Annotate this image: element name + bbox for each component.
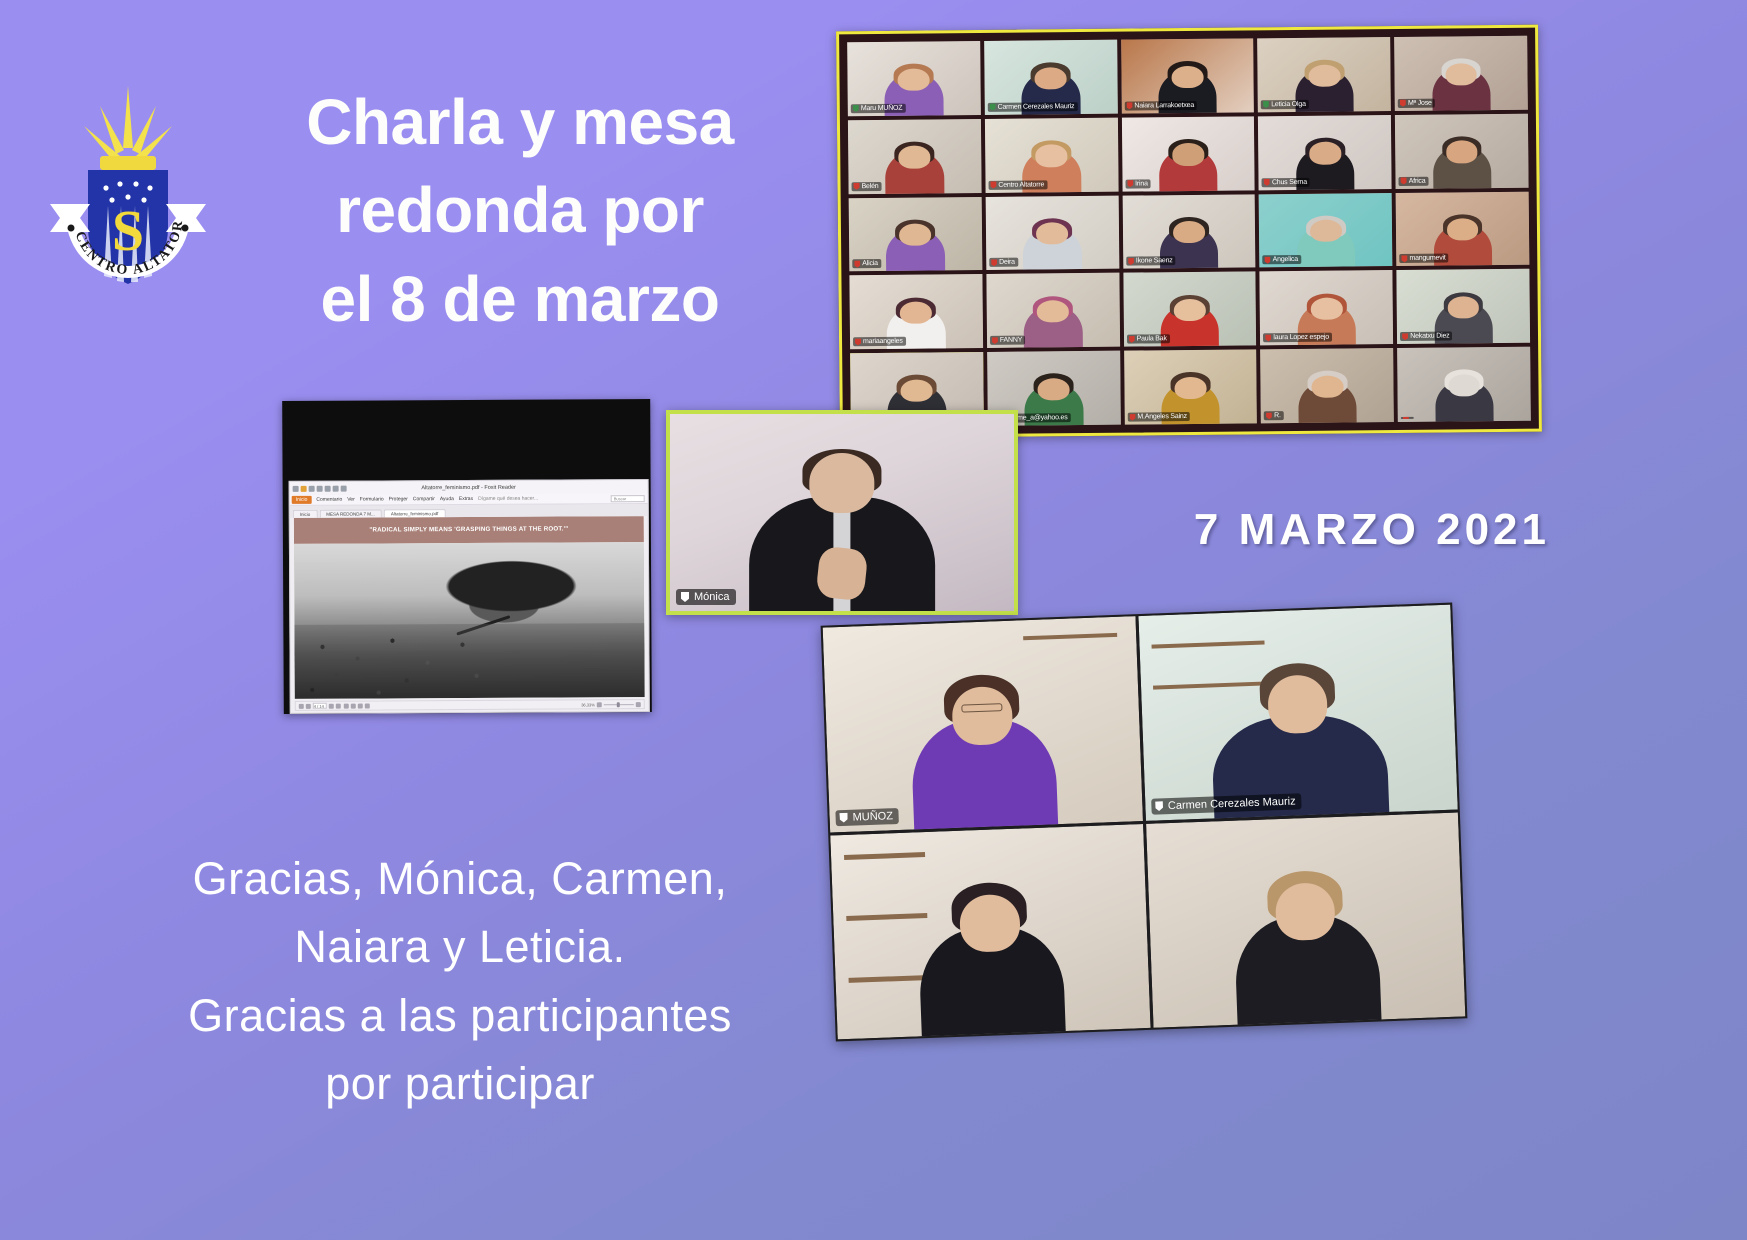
participant-name: laura Lopez espejo [1263, 333, 1332, 343]
zoom-tile: R. [1261, 348, 1394, 423]
speaker-tile-4 [1146, 812, 1466, 1028]
glasses-shape [962, 703, 1003, 713]
participant-name: Carmen Cerezales Mauriz [988, 102, 1078, 112]
crowd-shape [294, 623, 644, 699]
menu-extras[interactable]: Extras [459, 496, 473, 502]
zoom-tile: Ikone Saenz [1122, 194, 1255, 269]
tile-head [1309, 142, 1341, 164]
menu-home[interactable]: Inicio [292, 496, 312, 504]
zoom-tile: Carmen Cerezales Mauriz [984, 40, 1117, 115]
tile-head [1310, 298, 1342, 320]
video-hand [815, 546, 868, 602]
zoom-gallery-tiles: Maru MUÑOZ Carmen Cerezales Mauriz Naiar… [847, 36, 1531, 428]
next-page-icon[interactable] [329, 703, 334, 708]
tile-head [1038, 378, 1070, 400]
monica-name-label: Mónica [676, 589, 736, 605]
zoom-tile: Belén [848, 119, 981, 194]
zoom-tile: Naiara Larrakoetxea [1121, 38, 1254, 113]
zoom-tile: Paula Bak [1123, 272, 1256, 347]
facing-icon[interactable] [358, 703, 363, 708]
zoom-tile: laura Lopez espejo [1260, 270, 1393, 345]
participant-name: M.Angeles Sainz [1127, 412, 1190, 422]
participant-name: Nekatxu Diez [1400, 332, 1452, 342]
zoom-level[interactable]: 36,33% [581, 702, 595, 707]
zoom-tile: Leticia Olga [1258, 37, 1391, 112]
zoom-tile: Centro Altatorre [985, 117, 1118, 192]
participant-name: FANNY [990, 336, 1025, 345]
tile-head [1035, 67, 1067, 89]
zoom-tile: Chus Serna [1258, 115, 1391, 190]
participant-name: Maru MUÑOZ [851, 104, 906, 114]
zoom-tile: Nekatxu Diez [1397, 269, 1531, 344]
menu-formulario[interactable]: Formulario [360, 496, 384, 502]
svg-text:S: S [112, 198, 144, 263]
zoom-in-icon[interactable] [636, 702, 641, 707]
page-title: Charla y mesa redonda por el 8 de marzo [240, 78, 800, 343]
search-input[interactable]: Buscar [611, 495, 645, 502]
thanks-line-1: Gracias, Mónica, Carmen, [90, 845, 830, 913]
zoom-gallery-screenshot: Maru MUÑOZ Carmen Cerezales Mauriz Naiar… [836, 25, 1542, 439]
tile-head [1171, 65, 1203, 87]
titlebar: Altatorre_feminismo.pdf - Foxit Reader [290, 480, 648, 495]
zoom-tile: mangumevit [1396, 191, 1530, 266]
tile-head [1447, 218, 1479, 240]
thanks-message: Gracias, Mónica, Carmen, Naiara y Letici… [90, 845, 830, 1119]
speakers-quad-tiles: MUÑOZ Carmen Cerezales Mauriz [823, 605, 1466, 1040]
tab-inicio[interactable]: Inicio [293, 510, 318, 518]
view-mode-controls[interactable] [344, 703, 370, 708]
tile-head [1446, 141, 1478, 163]
slide-quote: "RADICAL SIMPLY MEANS 'GRASPING THINGS A… [294, 516, 644, 544]
zoom-tile: mariaangeles [849, 274, 982, 349]
menu-comentario[interactable]: Comentario [316, 497, 342, 503]
speaker-tile-3 [830, 824, 1150, 1040]
menu-ver[interactable]: Ver [347, 497, 355, 503]
angela-davis-photo [294, 542, 645, 699]
tile-head [1172, 143, 1204, 165]
participant-name: Belén [852, 182, 882, 191]
participant-name: R. [1264, 411, 1284, 420]
zoom-tile: Africa [1395, 114, 1529, 189]
pdf-page-view: "RADICAL SIMPLY MEANS 'GRASPING THINGS A… [294, 516, 645, 699]
tile-head [1311, 375, 1343, 397]
participant-name: Naiara Larrakoetxea [1124, 101, 1197, 111]
fit-page-icon[interactable] [365, 703, 370, 708]
first-page-icon[interactable] [299, 703, 304, 708]
participant-name: Irina [1125, 179, 1151, 188]
tile-head [1447, 296, 1479, 318]
participant-name: Leticia Olga [1261, 100, 1309, 109]
participant-name: Chus Serna [1262, 177, 1310, 186]
participant-name: Ikone Saenz [1126, 257, 1176, 266]
participant-name: Paula Bak [1127, 334, 1170, 343]
tile-head [900, 301, 932, 323]
tile-head [1448, 374, 1480, 396]
zoom-out-icon[interactable] [597, 702, 602, 707]
tile-head [898, 68, 930, 90]
zoom-slider[interactable] [604, 704, 634, 705]
page-nav-controls[interactable]: 4 / 14 [299, 703, 341, 709]
tile-head [1445, 63, 1477, 85]
tile-head [899, 146, 931, 168]
zoom-tile: Alicia [849, 197, 982, 272]
participant-name: mariaangeles [853, 337, 906, 347]
document-title: Altatorre_feminismo.pdf - Foxit Reader [290, 484, 648, 492]
tell-me-field[interactable]: Dígame qué desea hacer... [478, 496, 538, 502]
participant-name: Africa [1399, 176, 1429, 185]
continuous-icon[interactable] [351, 703, 356, 708]
tile-head [899, 224, 931, 246]
title-line-1: Charla y mesa [240, 78, 800, 166]
participant-name [1401, 417, 1414, 419]
zoom-tile: Angelica [1259, 193, 1392, 268]
statusbar[interactable]: 4 / 14 36,33% [295, 699, 645, 711]
zoom-tile: Mª Jose [1394, 36, 1528, 111]
last-page-icon[interactable] [336, 703, 341, 708]
menu-compartir[interactable]: Compartir [413, 496, 435, 502]
zoom-tile: Maru MUÑOZ [847, 41, 980, 116]
speakers-quad-screenshot: MUÑOZ Carmen Cerezales Mauriz [821, 603, 1468, 1042]
monica-video-tile: Mónica [666, 410, 1018, 615]
event-date: 7 MARZO 2021 [1130, 505, 1550, 555]
zoom-tile: Deira [985, 195, 1118, 270]
speaker-name: MUÑOZ [835, 807, 899, 825]
participant-name: Angelica [1263, 255, 1301, 264]
tile-head [901, 379, 933, 401]
participant-name: mangumevit [1399, 254, 1448, 263]
prev-page-icon[interactable] [306, 703, 311, 708]
zoom-tile [1397, 347, 1531, 422]
page-number-input[interactable]: 4 / 14 [313, 703, 327, 709]
participant-name: Alicia [852, 259, 881, 268]
tile-head [1308, 64, 1340, 86]
tile-head [1173, 221, 1205, 243]
participant-name: Mª Jose [1398, 98, 1435, 107]
tile-head [1174, 377, 1206, 399]
poster-canvas: S CENTRO ALTATORRE Charla y mesa redonda… [0, 0, 1747, 1240]
video-head [809, 453, 874, 512]
tile-head [1310, 220, 1342, 242]
speaker-tile-carmen: Carmen Cerezales Mauriz [1138, 605, 1458, 821]
title-line-2: redonda por [240, 166, 800, 254]
zoom-tile: M.Angeles Sainz [1124, 350, 1257, 425]
speaker-tile-munoz: MUÑOZ [823, 616, 1143, 832]
centro-altatorre-crest-icon: S CENTRO ALTATORRE [38, 78, 218, 318]
tile-head [1174, 299, 1206, 321]
zoom-controls[interactable]: 36,33% [581, 702, 641, 707]
tile-head [1037, 300, 1069, 322]
foxit-app-window: Altatorre_feminismo.pdf - Foxit Reader I… [289, 479, 650, 714]
thanks-line-4: por participar [90, 1050, 830, 1118]
menu-proteger[interactable]: Proteger [389, 496, 408, 502]
menu-ayuda[interactable]: Ayuda [440, 496, 454, 502]
title-line-3: el 8 de marzo [240, 255, 800, 343]
zoom-tile: FANNY [986, 273, 1119, 348]
participant-name: Centro Altatorre [988, 180, 1047, 190]
zoom-tile: Irina [1121, 116, 1254, 191]
tile-head [1035, 145, 1067, 167]
thanks-line-3: Gracias a las participantes [90, 982, 830, 1050]
thanks-line-2: Naiara y Leticia. [90, 913, 830, 981]
participant-name: Deira [989, 258, 1018, 267]
foxit-reader-screenshot: Altatorre_feminismo.pdf - Foxit Reader I… [282, 399, 652, 714]
tile-head [1036, 222, 1068, 244]
single-page-icon[interactable] [344, 703, 349, 708]
